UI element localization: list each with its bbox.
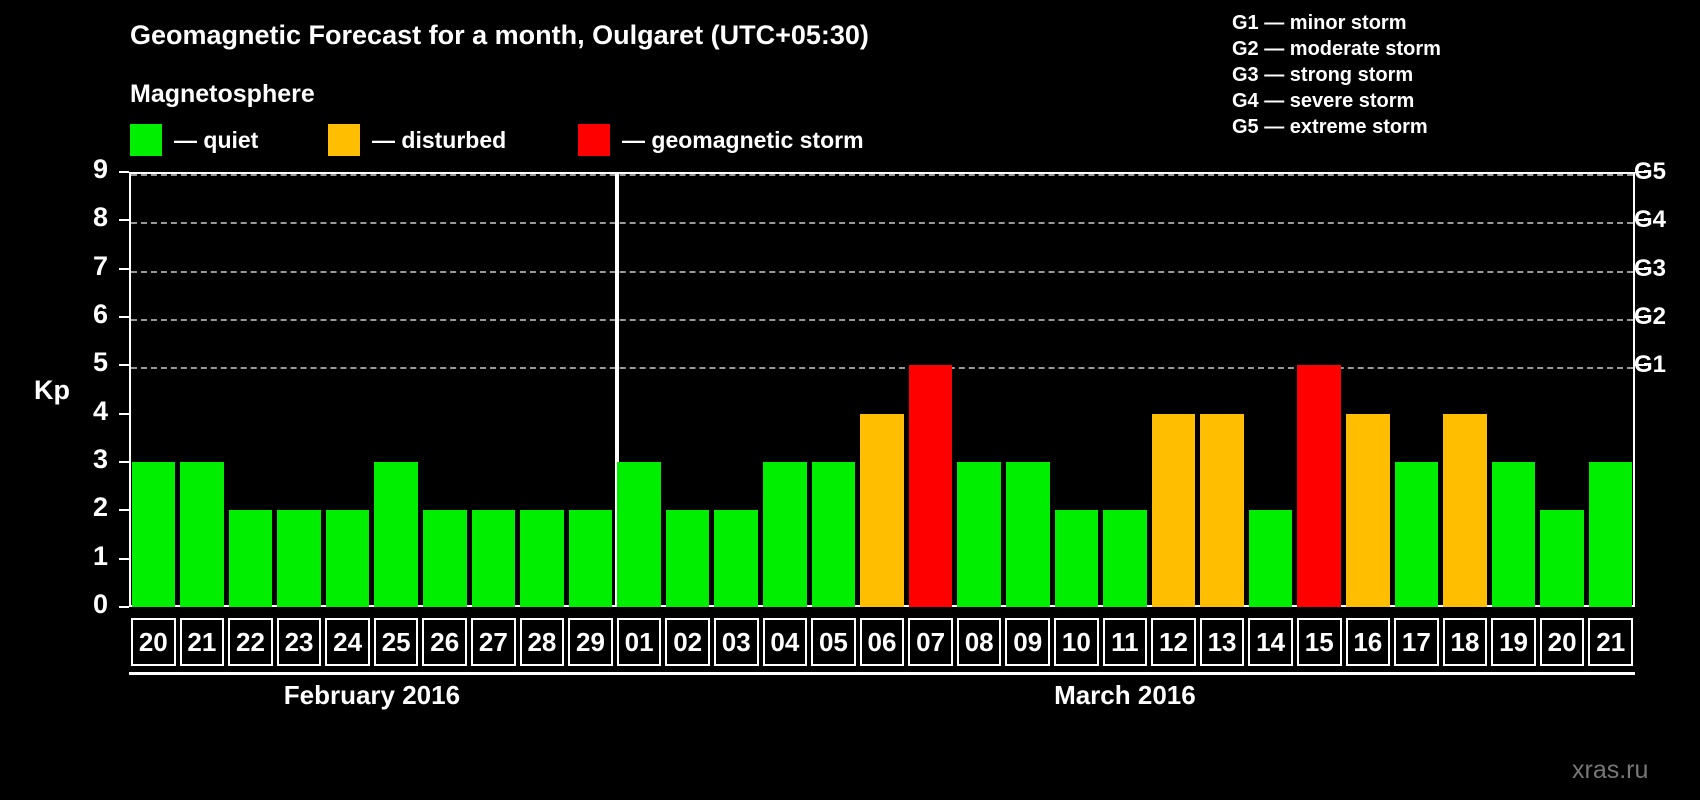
y-tick-mark-3 [119,461,129,463]
date-cell-29[interactable]: 20 [1540,618,1585,666]
y-tick-mark-6 [119,316,129,318]
g-scale-row-g1: G1 — minor storm [1232,10,1441,36]
magnetosphere-heading: Magnetosphere [130,80,315,109]
date-cell-10[interactable]: 01 [617,618,662,666]
date-cell-19[interactable]: 10 [1054,618,1099,666]
g-tick-mark-g5 [1635,171,1647,173]
date-cell-8[interactable]: 28 [520,618,565,666]
g-scale-row-g3: G3 — strong storm [1232,62,1441,88]
date-cell-26[interactable]: 17 [1394,618,1439,666]
date-cell-13[interactable]: 04 [763,618,808,666]
legend-swatch-icon [578,124,610,156]
legend-swatch-icon [130,124,162,156]
date-cell-0[interactable]: 20 [131,618,176,666]
bars-layer [129,172,1635,607]
bar-05[interactable] [812,462,856,607]
bar-22[interactable] [229,510,273,607]
bar-18[interactable] [1443,414,1487,607]
y-tick-label-0: 0 [48,589,108,620]
g-tick-mark-g2 [1635,316,1647,318]
date-axis: 2021222324252627282901020304050607080910… [129,618,1635,666]
axis-baseline [129,672,1635,675]
bar-24[interactable] [326,510,370,607]
y-tick-mark-9 [119,171,129,173]
date-cell-17[interactable]: 08 [957,618,1002,666]
month-caption-february: February 2016 [129,680,615,711]
date-cell-7[interactable]: 27 [471,618,516,666]
date-cell-28[interactable]: 19 [1491,618,1536,666]
legend-swatch-icon [328,124,360,156]
date-cell-4[interactable]: 24 [325,618,370,666]
bar-02[interactable] [666,510,710,607]
bar-26[interactable] [423,510,467,607]
bar-20[interactable] [1540,510,1584,607]
bar-09[interactable] [1006,462,1050,607]
date-cell-27[interactable]: 18 [1443,618,1488,666]
legend-item-quiet: — quiet [130,124,258,156]
y-tick-label-7: 7 [48,251,108,282]
g-scale-row-g2: G2 — moderate storm [1232,36,1441,62]
g-scale-row-g5: G5 — extreme storm [1232,114,1441,140]
bar-28[interactable] [520,510,564,607]
date-cell-5[interactable]: 25 [374,618,419,666]
g-scale-legend: G1 — minor stormG2 — moderate stormG3 — … [1232,10,1441,140]
bar-03[interactable] [714,510,758,607]
bar-27[interactable] [472,510,516,607]
y-tick-label-6: 6 [48,299,108,330]
bar-01[interactable] [617,462,661,607]
date-cell-9[interactable]: 29 [568,618,613,666]
legend-item-disturbed: — disturbed [328,124,506,156]
date-cell-22[interactable]: 13 [1200,618,1245,666]
y-tick-mark-7 [119,268,129,270]
date-cell-15[interactable]: 06 [860,618,905,666]
bar-20[interactable] [132,462,176,607]
y-axis-title: Kp [34,375,70,406]
bar-10[interactable] [1055,510,1099,607]
date-cell-30[interactable]: 21 [1588,618,1633,666]
bar-19[interactable] [1492,462,1536,607]
bar-17[interactable] [1395,462,1439,607]
date-cell-12[interactable]: 03 [714,618,759,666]
g-tick-mark-g1 [1635,364,1647,366]
date-cell-3[interactable]: 23 [277,618,322,666]
date-cell-16[interactable]: 07 [908,618,953,666]
bar-13[interactable] [1200,414,1244,607]
date-cell-21[interactable]: 12 [1151,618,1196,666]
bar-29[interactable] [569,510,613,607]
y-tick-label-1: 1 [48,541,108,572]
y-tick-mark-2 [119,509,129,511]
legend-label: — disturbed [372,127,506,154]
date-cell-11[interactable]: 02 [665,618,710,666]
month-caption-march: March 2016 [615,680,1635,711]
watermark: xras.ru [1572,756,1648,785]
bar-07[interactable] [909,365,953,607]
page-title: Geomagnetic Forecast for a month, Oulgar… [130,20,869,51]
y-tick-label-9: 9 [48,154,108,185]
g-scale-row-g4: G4 — severe storm [1232,88,1441,114]
bar-21[interactable] [1589,462,1633,607]
y-tick-mark-1 [119,558,129,560]
bar-23[interactable] [277,510,321,607]
bar-15[interactable] [1297,365,1341,607]
bar-16[interactable] [1346,414,1390,607]
y-tick-mark-5 [119,364,129,366]
g-tick-mark-g3 [1635,268,1647,270]
g-tick-mark-g4 [1635,219,1647,221]
bar-12[interactable] [1152,414,1196,607]
bar-06[interactable] [860,414,904,607]
y-tick-label-3: 3 [48,444,108,475]
y-tick-label-5: 5 [48,347,108,378]
bar-25[interactable] [374,462,418,607]
date-cell-14[interactable]: 05 [811,618,856,666]
y-tick-mark-4 [119,413,129,415]
date-cell-24[interactable]: 15 [1297,618,1342,666]
date-cell-2[interactable]: 22 [228,618,273,666]
date-cell-6[interactable]: 26 [422,618,467,666]
legend-label: — quiet [174,127,258,154]
bar-11[interactable] [1103,510,1147,607]
legend: — quiet— disturbed— geomagnetic storm [130,124,1030,156]
bar-14[interactable] [1249,510,1293,607]
legend-label: — geomagnetic storm [622,127,864,154]
bar-08[interactable] [957,462,1001,607]
date-cell-20[interactable]: 11 [1103,618,1148,666]
bar-21[interactable] [180,462,224,607]
date-cell-25[interactable]: 16 [1346,618,1391,666]
y-tick-label-8: 8 [48,202,108,233]
date-cell-18[interactable]: 09 [1005,618,1050,666]
date-cell-23[interactable]: 14 [1248,618,1293,666]
y-tick-mark-0 [119,606,129,608]
date-cell-1[interactable]: 21 [180,618,225,666]
legend-item-geomagneticstorm: — geomagnetic storm [578,124,864,156]
y-tick-mark-8 [119,219,129,221]
bar-04[interactable] [763,462,807,607]
y-tick-label-2: 2 [48,492,108,523]
